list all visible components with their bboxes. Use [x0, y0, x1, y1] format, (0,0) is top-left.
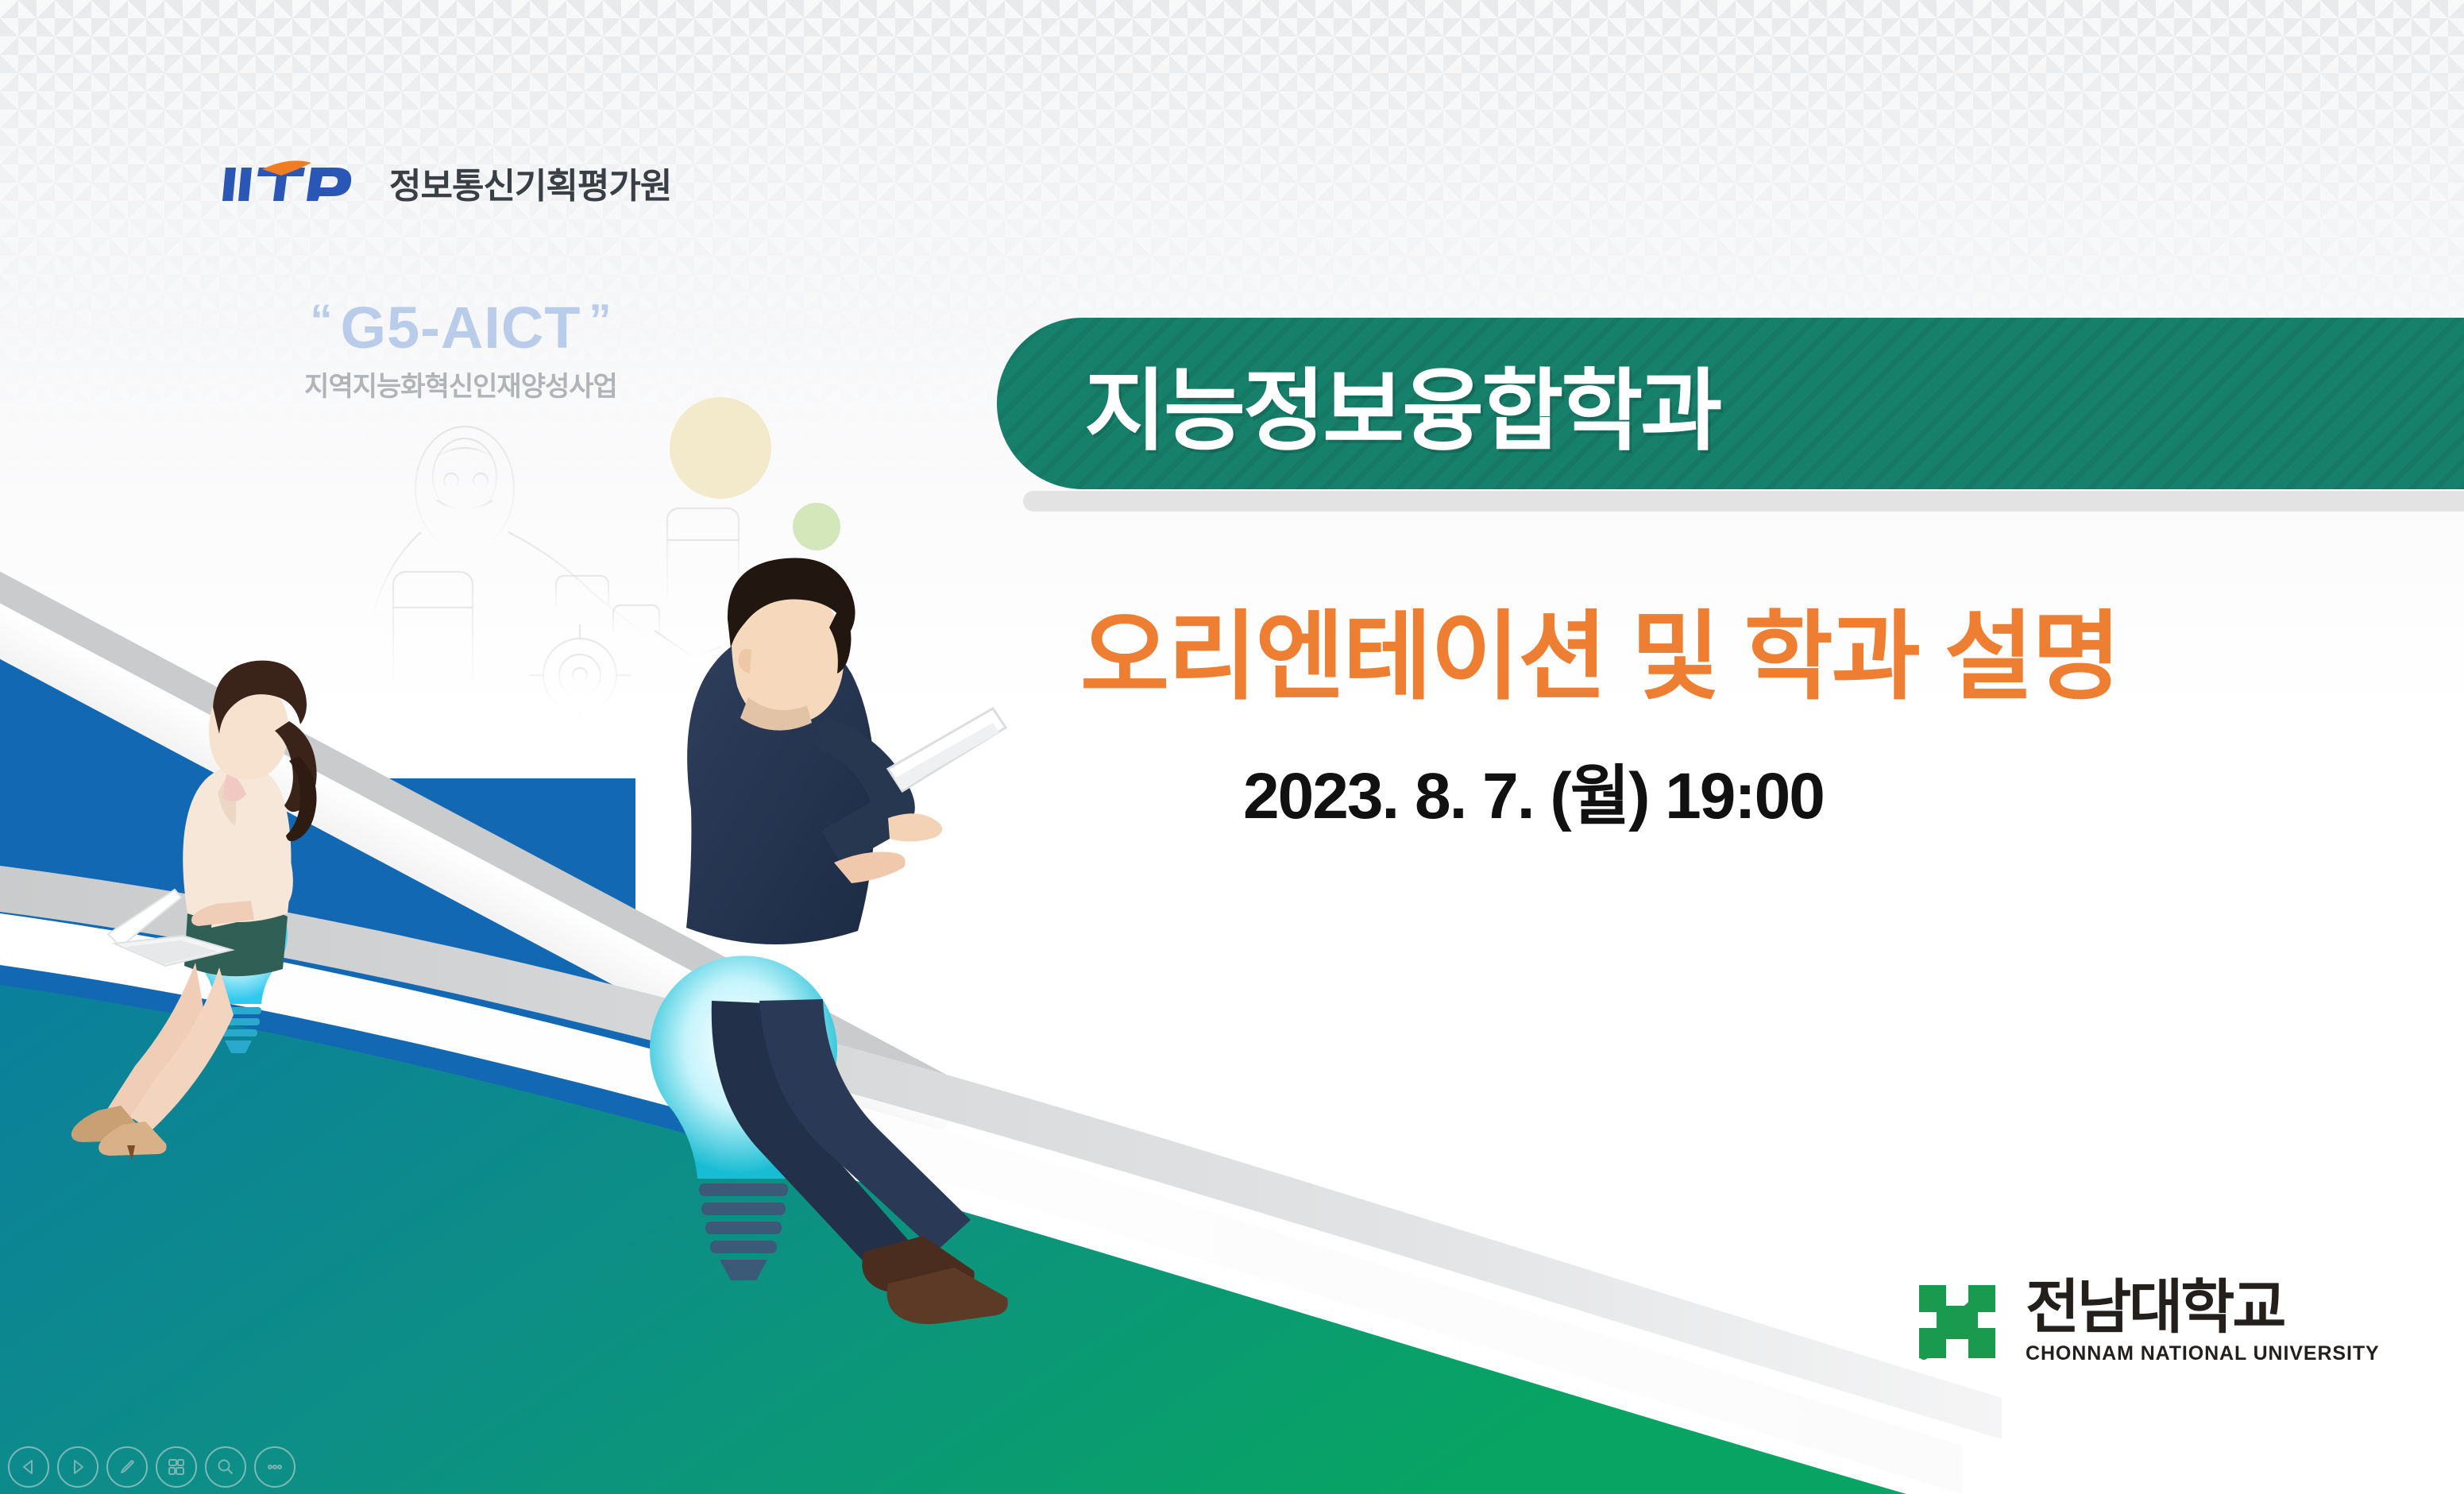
chonnam-university-logo: 전남대학교 CHONNAM NATIONAL UNIVERSITY	[1906, 1271, 2380, 1372]
presentation-slide: 정보통신기획평가원 “G5-AICT” 지역지능화혁신인재양성사업 지능정보융합…	[0, 0, 2464, 1494]
university-name-en: CHONNAM NATIONAL UNIVERSITY	[2026, 1342, 2380, 1365]
previous-slide-button[interactable]	[8, 1446, 49, 1488]
woman-with-laptop-on-lightbulb	[32, 651, 397, 1160]
program-name: G5-AICT	[341, 295, 581, 361]
magnifier-icon	[216, 1457, 235, 1477]
pen-tool-button[interactable]	[106, 1446, 148, 1488]
iitp-organization-name: 정보통신기획평가원	[389, 157, 671, 208]
ellipsis-icon	[265, 1457, 284, 1477]
more-options-button[interactable]	[254, 1446, 295, 1488]
pen-icon	[118, 1457, 137, 1477]
iitp-logo-mark	[222, 155, 373, 210]
chonnam-emblem-icon	[1906, 1271, 2008, 1372]
department-banner: 지능정보융합학과	[997, 318, 2464, 489]
triangle-right-icon	[69, 1458, 87, 1476]
slide-grid-button[interactable]	[156, 1446, 197, 1488]
grid-icon	[167, 1457, 186, 1477]
quote-open-mark: “	[311, 295, 333, 345]
zoom-button[interactable]	[205, 1446, 246, 1488]
university-name-kr: 전남대학교	[2026, 1278, 2380, 1337]
event-subtitle: 오리엔테이션 및 학과 설명	[1080, 578, 2119, 719]
next-slide-button[interactable]	[57, 1446, 98, 1488]
event-datetime: 2023. 8. 7. (월) 19:00	[1243, 743, 1824, 837]
iitp-logo: 정보통신기획평가원	[222, 155, 671, 210]
triangle-left-icon	[20, 1458, 37, 1476]
program-description: 지역지능화혁신인재양성사업	[294, 365, 628, 403]
department-title: 지능정보융합학과	[1084, 339, 1720, 468]
man-with-tablet-on-lightbulb	[572, 556, 1080, 1446]
slideshow-toolbar[interactable]	[8, 1446, 295, 1488]
g5-aict-program-block: “G5-AICT” 지역지능화혁신인재양성사업	[294, 294, 628, 403]
quote-close-mark: ”	[589, 295, 612, 345]
banner-drop-shadow	[1023, 491, 2464, 512]
